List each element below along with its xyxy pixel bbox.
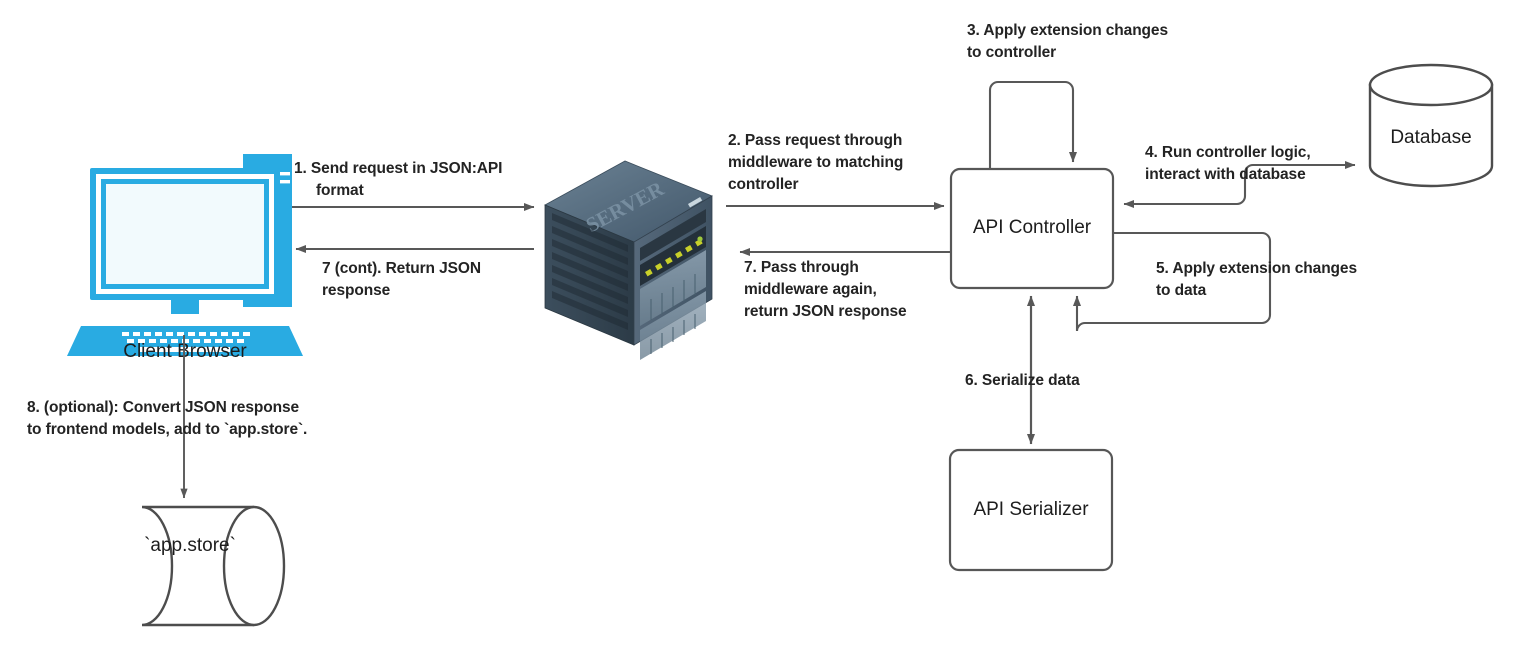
step-5-label: 5. Apply extension changes to data	[1156, 260, 1361, 299]
step-8-label: 8. (optional): Convert JSON response to …	[27, 399, 307, 438]
step-3-label: 3. Apply extension changes to controller	[967, 22, 1172, 61]
client-browser-icon	[67, 154, 303, 356]
flow-diagram: Client Browser SERVER	[0, 0, 1532, 669]
arrow-step-3-loop	[990, 82, 1073, 169]
step-6-label: 6. Serialize data	[965, 372, 1080, 389]
step-4-label: 4. Run controller logic, interact with d…	[1145, 144, 1315, 183]
monitor-screen	[106, 184, 264, 284]
app-store-label: `app.store`	[144, 535, 236, 556]
api-controller-label: API Controller	[973, 217, 1092, 238]
database-label: Database	[1390, 127, 1471, 148]
database-cylinder[interactable]	[1370, 65, 1492, 186]
server-icon: SERVER	[545, 161, 712, 360]
diagram-canvas: Client Browser SERVER	[0, 0, 1532, 669]
monitor-stand-neck	[171, 300, 199, 314]
api-serializer-label: API Serializer	[973, 499, 1089, 520]
step-2-label: 2. Pass request through middleware to ma…	[728, 132, 907, 193]
step-1-label: 1. Send request in JSON:API format	[294, 160, 507, 199]
client-browser-label: Client Browser	[123, 341, 247, 362]
step-7-label: 7. Pass through middleware again, return…	[744, 259, 907, 320]
app-store-shape[interactable]	[142, 507, 284, 625]
step-7-cont-label: 7 (cont). Return JSON response	[322, 260, 485, 299]
